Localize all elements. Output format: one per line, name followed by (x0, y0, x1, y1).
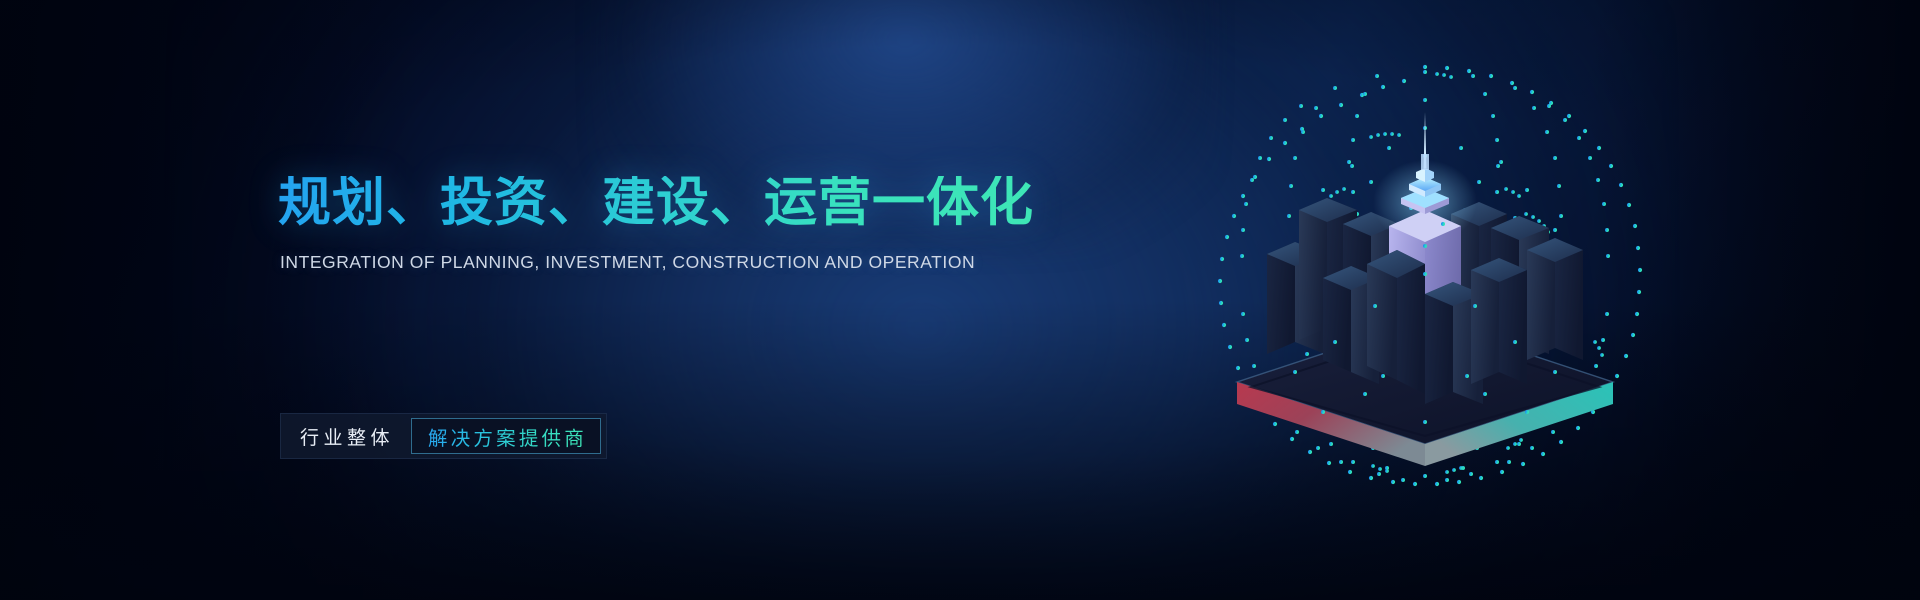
status-badge: 行业整体 解决方案提供商 (280, 413, 607, 459)
banner-copy: 规划、投资、建设、运营一体化 INTEGRATION OF PLANNING, … (278, 0, 1038, 600)
hero-banner: 规划、投资、建设、运营一体化 INTEGRATION OF PLANNING, … (0, 0, 1920, 600)
status-badge-highlight-label: 解决方案提供商 (428, 422, 587, 451)
page-subtitle: INTEGRATION OF PLANNING, INVESTMENT, CON… (280, 252, 975, 273)
status-badge-highlight: 解决方案提供商 (411, 418, 601, 454)
tower-antenna-base (1421, 154, 1429, 170)
isometric-smart-city-globe-illustration (1175, 42, 1675, 542)
status-badge-primary-label: 行业整体 (281, 414, 411, 458)
building-far-right (1527, 238, 1583, 360)
building-front-right (1471, 258, 1527, 384)
page-title: 规划、投资、建设、运营一体化 (278, 176, 1034, 229)
